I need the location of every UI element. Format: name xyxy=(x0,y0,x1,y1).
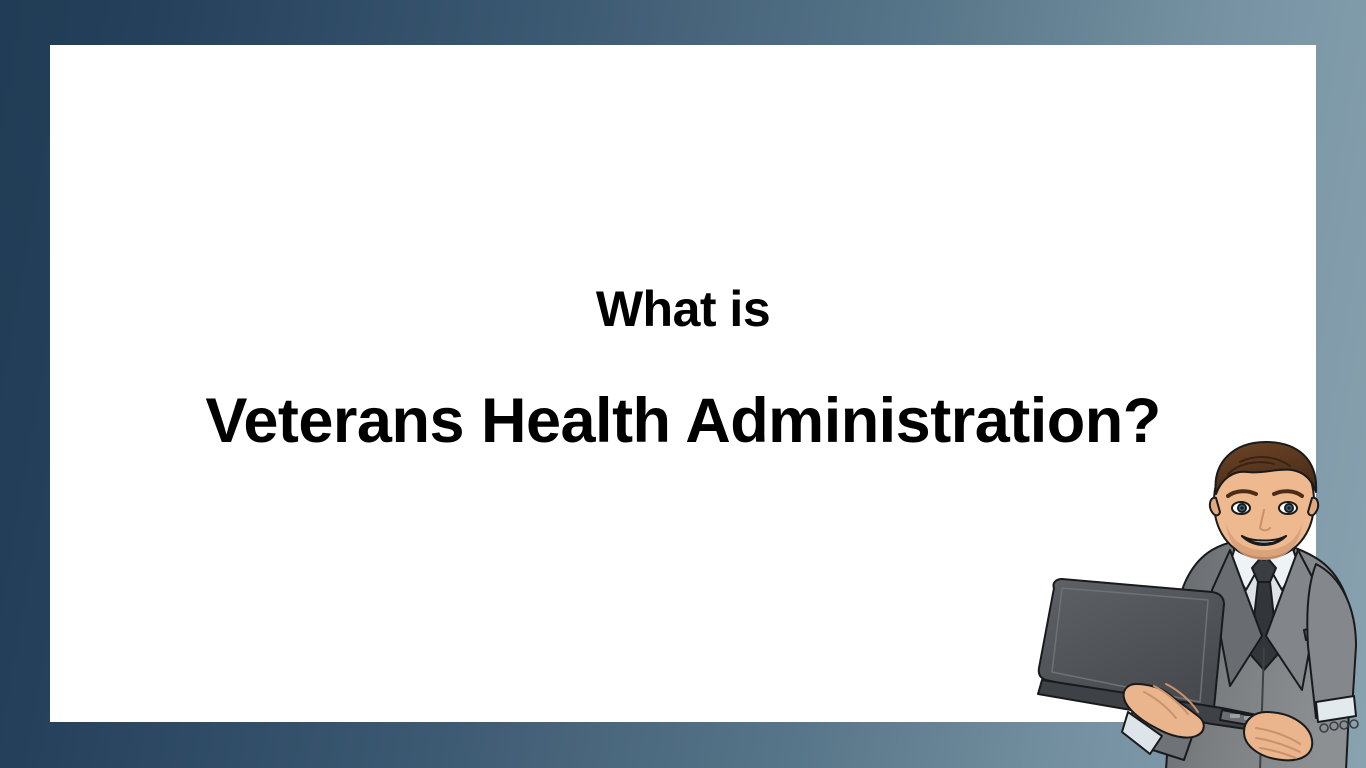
slide-title-line-1: What is xyxy=(50,283,1316,336)
cuff-buttons-icon xyxy=(1320,720,1358,732)
title-block: What is Veterans Health Administration? xyxy=(50,283,1316,454)
hand-right-fingers xyxy=(1256,728,1300,758)
slide-title-line-2: Veterans Health Administration? xyxy=(50,388,1316,454)
cuff-right xyxy=(1316,696,1356,722)
slide-canvas: What is Veterans Health Administration? xyxy=(0,0,1366,768)
slide-content-card: What is Veterans Health Administration? xyxy=(50,45,1316,722)
